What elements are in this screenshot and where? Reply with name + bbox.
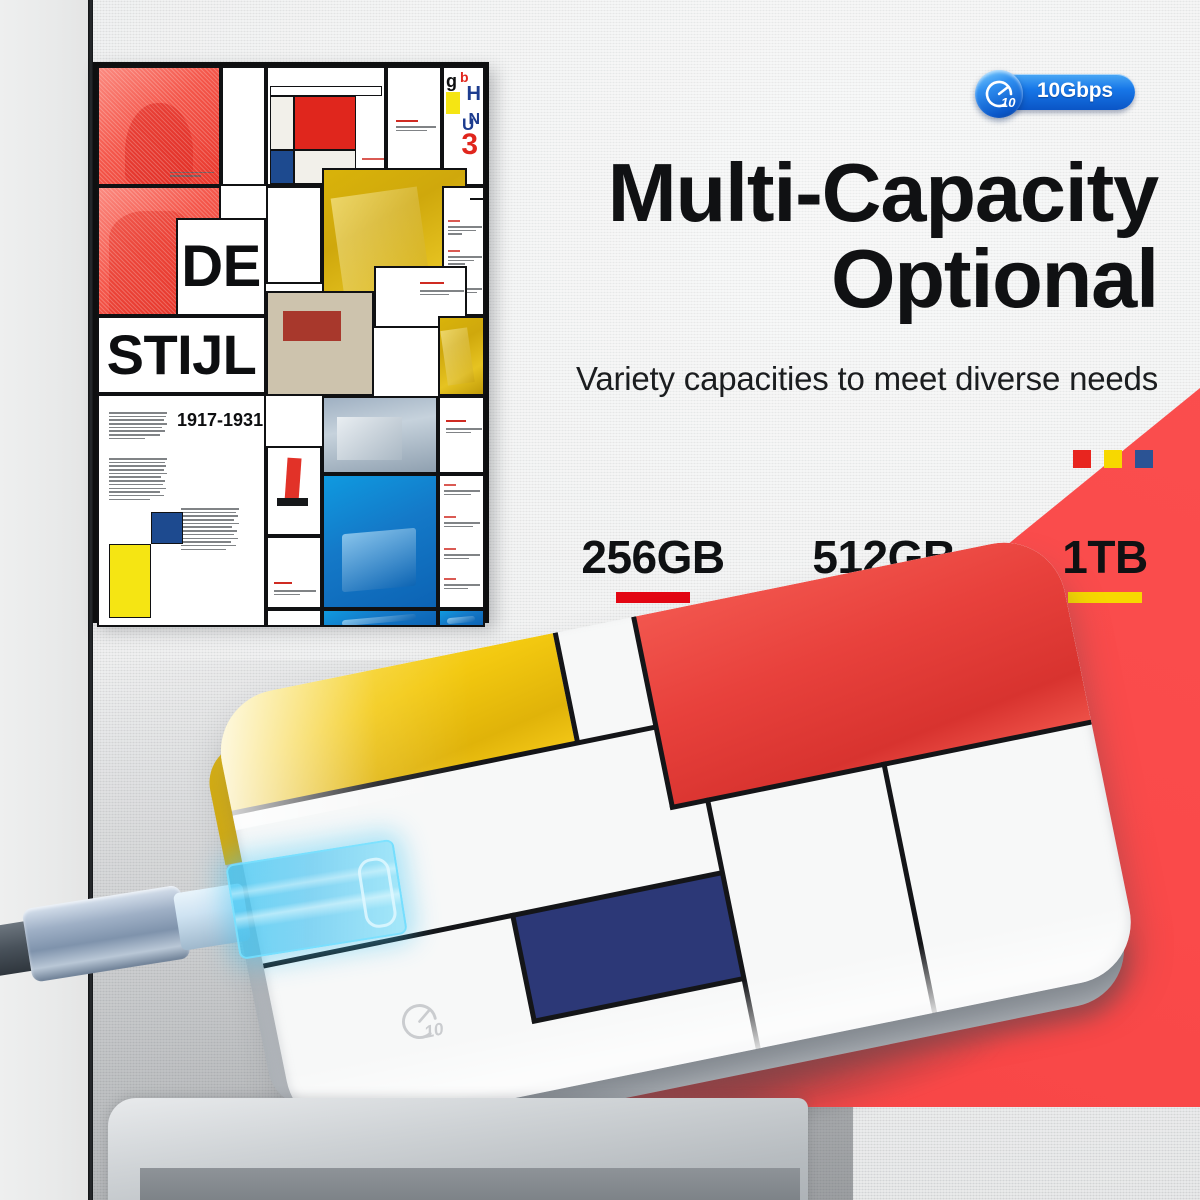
- poster-date-range: 1917-1931: [177, 410, 263, 431]
- poster-title-de: DE: [178, 220, 264, 314]
- mondrian-swatch-offwhite: [270, 96, 294, 150]
- poster-caption-5: [396, 126, 436, 133]
- product-banner: g b H U N 3 DE: [0, 0, 1200, 1200]
- display-pedestal-front: [140, 1168, 800, 1200]
- mondrian-swatch-blue-2: [151, 512, 183, 544]
- poster-caption-9: [446, 428, 482, 435]
- poster-cell-title-stijl: STIJL: [97, 316, 266, 394]
- poster-tick-red-a: [396, 120, 418, 122]
- poster-tick-red-c: [446, 420, 466, 422]
- poster-cell-bodytext: 1917-1931: [97, 394, 266, 627]
- capacity-underline-bar: [616, 592, 690, 603]
- svg-text:10: 10: [422, 1018, 445, 1042]
- poster-cell-bottom-blue: [322, 609, 438, 627]
- poster-caption-14b: [448, 226, 482, 237]
- poster-cell-red-blue-chair: [266, 446, 322, 536]
- poster-cell-laptop-photo: [322, 474, 438, 609]
- poster-caption-2: [362, 158, 384, 162]
- mondrian-portrait-silhouette: [125, 103, 192, 184]
- capacity-label: 256GB: [563, 534, 743, 580]
- headline-line-2: Optional: [498, 236, 1158, 322]
- poster-grid: g b H U N 3 DE: [97, 66, 485, 619]
- poster-caption-7: [420, 290, 464, 297]
- poster-cell-bottom-blue-2: [438, 609, 485, 627]
- page-subtitle: Variety capacities to meet diverse needs: [398, 360, 1158, 398]
- poster-glyph-g: g: [446, 72, 457, 90]
- poster-bodytext-para1: [109, 412, 167, 442]
- poster-cell-title-de: DE: [176, 218, 266, 316]
- capacity-underline-bar: [1068, 592, 1142, 603]
- headline-line-1: Multi-Capacity: [498, 150, 1158, 236]
- poster-bodytext-para2: [109, 458, 167, 502]
- speed-badge[interactable]: 10Gbps 10: [975, 70, 1135, 114]
- poster-caption-20: [444, 578, 456, 582]
- speedometer-10-icon: 10: [391, 993, 448, 1050]
- poster-glyph-H: H: [467, 84, 481, 104]
- capacity-option-256gb[interactable]: 256GB: [563, 534, 743, 603]
- data-transfer-glow: [225, 839, 408, 960]
- poster-caption-20b: [444, 584, 480, 591]
- poster-cell-sidebar-2: [438, 474, 485, 609]
- poster-cell-portrait-top: [97, 66, 221, 186]
- poster-caption-19: [444, 548, 456, 552]
- device-gridline-v5: [881, 761, 937, 1013]
- mondrian-swatch-yellow-2: [109, 544, 151, 618]
- poster-tick-red-b: [420, 282, 444, 284]
- mondrian-swatch-blue: [270, 150, 294, 184]
- usb-c-connector: [22, 885, 192, 983]
- de-stijl-poster: g b H U N 3 DE: [93, 62, 489, 623]
- poster-caption-19b: [444, 554, 480, 561]
- poster-caption-17: [444, 484, 456, 488]
- speedometer-10-icon: 10: [975, 70, 1023, 118]
- poster-caption-17b: [444, 490, 480, 497]
- poster-tick-red-d: [274, 582, 292, 584]
- poster-glyph-N: N: [468, 112, 480, 128]
- poster-caption-18: [444, 516, 456, 520]
- poster-glyph-3: 3: [461, 130, 478, 160]
- mondrian-swatch-red: [294, 96, 356, 150]
- poster-caption-13: [274, 590, 316, 597]
- poster-cell-bottom-white: [266, 609, 322, 627]
- poster-title-stijl: STIJL: [99, 318, 264, 392]
- poster-cell-caption-13: [266, 536, 322, 609]
- poster-tick-a: [470, 198, 485, 200]
- swatch-red: [1073, 450, 1091, 468]
- poster-typo-yellow-block: [446, 92, 460, 114]
- svg-text:10: 10: [1001, 95, 1016, 110]
- poster-caption-18b: [444, 522, 480, 529]
- glow-streaks: [227, 841, 405, 958]
- poster-cell-blank-a: [221, 66, 266, 186]
- mondrian-swatch-white-top: [270, 86, 382, 96]
- swatch-blue: [1135, 450, 1153, 468]
- swatch-yellow: [1104, 450, 1122, 468]
- poster-caption-15: [448, 250, 460, 254]
- poster-cell-blank-c: [266, 186, 322, 284]
- poster-bodytext-para3: [181, 508, 239, 552]
- poster-caption-14: [448, 220, 460, 224]
- poster-cell-de-unie-plan: [266, 291, 374, 396]
- poster-cell-caption-9: [438, 396, 485, 474]
- page-title: Multi-Capacity Optional: [498, 150, 1158, 323]
- speed-badge-label: 10Gbps: [1037, 79, 1129, 103]
- poster-cell-schroder-house: [322, 396, 438, 474]
- poster-glyph-b: b: [460, 70, 469, 84]
- poster-caption-1: [170, 172, 214, 179]
